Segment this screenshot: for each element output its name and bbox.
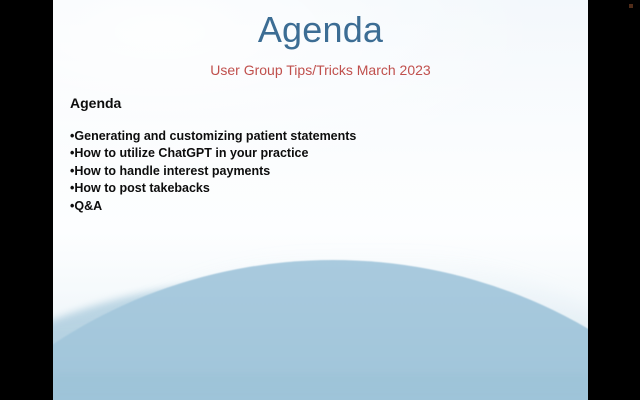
background-floor-band [53, 374, 588, 400]
list-item: •Q&A [70, 198, 356, 215]
slide-title: Agenda [53, 7, 588, 53]
list-item-label: Q&A [74, 199, 102, 213]
list-item: •How to handle interest payments [70, 163, 356, 180]
list-item-label: How to utilize ChatGPT in your practice [74, 146, 308, 160]
list-item-label: How to handle interest payments [74, 164, 270, 178]
presentation-slide: Agenda User Group Tips/Tricks March 2023… [53, 0, 588, 400]
corner-marker-dot [629, 4, 633, 8]
slide-subtitle: User Group Tips/Tricks March 2023 [53, 61, 588, 79]
video-slide-viewer: Agenda User Group Tips/Tricks March 2023… [0, 0, 640, 400]
letterbox-bar-right [588, 0, 640, 400]
letterbox-bar-left [0, 0, 52, 400]
list-item-label: How to post takebacks [74, 181, 209, 195]
list-item: •Generating and customizing patient stat… [70, 128, 356, 145]
slide-body: Agenda •Generating and customizing patie… [70, 94, 356, 215]
list-item: •How to post takebacks [70, 180, 356, 197]
body-heading: Agenda [70, 94, 356, 112]
list-item: •How to utilize ChatGPT in your practice [70, 145, 356, 162]
list-item-label: Generating and customizing patient state… [74, 129, 356, 143]
agenda-bullet-list: •Generating and customizing patient stat… [70, 128, 356, 215]
